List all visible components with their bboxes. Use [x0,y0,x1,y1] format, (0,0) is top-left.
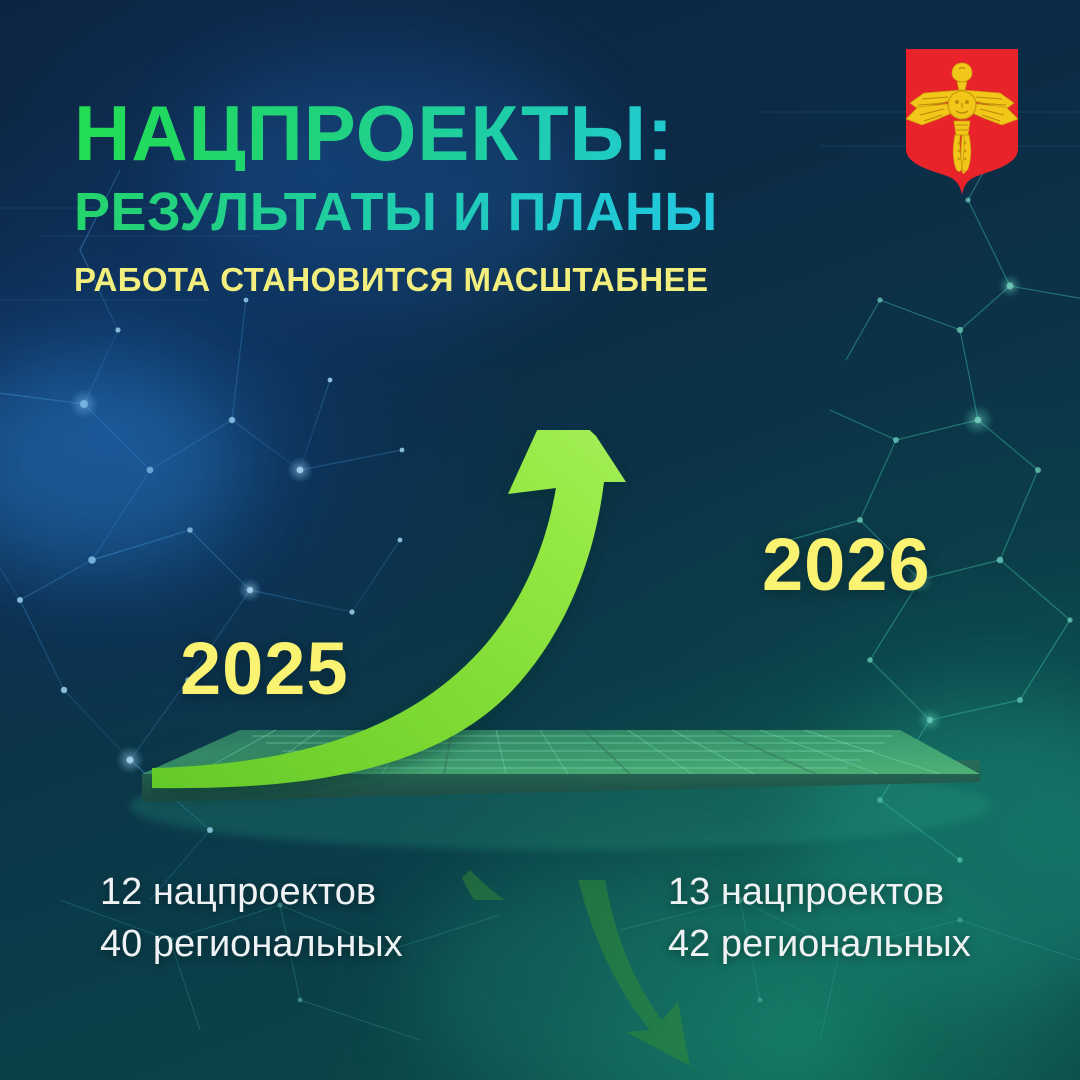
growth-chart-graphic [0,430,1080,900]
stat-line-projects: 13 нацпроектов [668,866,971,918]
stats-row: 12 нацпроектов 40 региональных 13 нацпро… [0,866,1080,986]
infographic-poster: НАЦПРОЕКТЫ: РЕЗУЛЬТАТЫ И ПЛАНЫ РАБОТА СТ… [0,0,1080,1080]
stat-column-2026: 13 нацпроектов 42 региональных [668,866,971,971]
year-label-2025: 2025 [180,626,349,711]
page-title: НАЦПРОЕКТЫ: [74,96,874,171]
page-subtitle: РЕЗУЛЬТАТЫ И ПЛАНЫ [74,185,874,239]
poster-header: НАЦПРОЕКТЫ: РЕЗУЛЬТАТЫ И ПЛАНЫ РАБОТА СТ… [74,96,874,299]
stat-column-2025: 12 нацпроектов 40 региональных [100,866,403,971]
page-tagline: РАБОТА СТАНОВИТСЯ МАСШТАБНЕЕ [74,261,874,299]
stat-line-projects: 12 нацпроектов [100,866,403,918]
year-label-2026: 2026 [762,522,931,607]
komi-coat-of-arms-icon [902,45,1022,200]
stat-line-regional: 40 региональных [100,918,403,970]
stat-line-regional: 42 региональных [668,918,971,970]
